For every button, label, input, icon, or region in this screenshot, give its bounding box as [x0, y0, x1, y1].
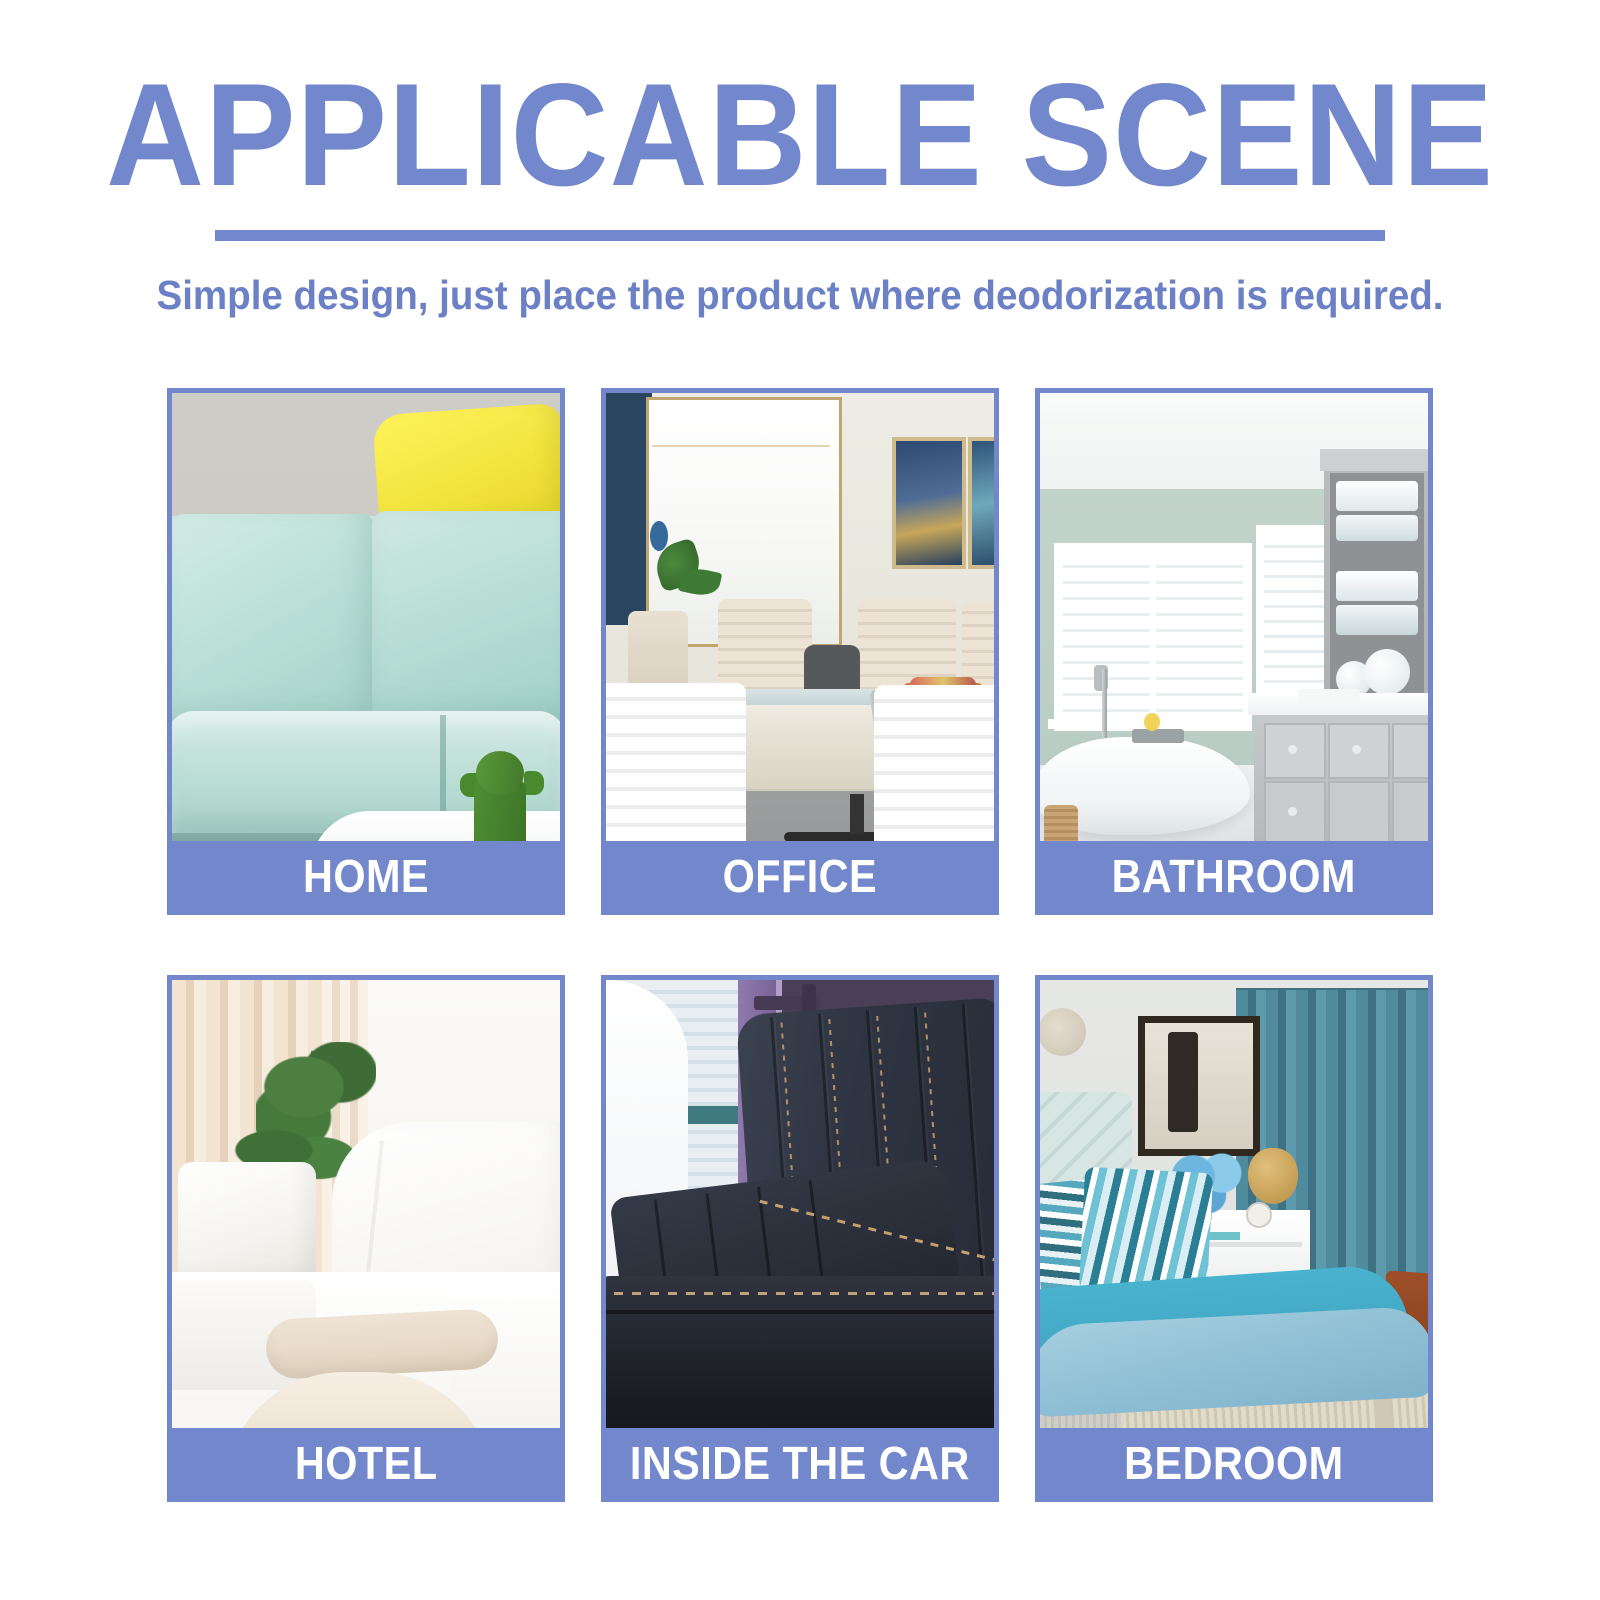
scene-label-office: OFFICE	[606, 841, 994, 910]
scene-label-bedroom: BEDROOM	[1040, 1428, 1428, 1497]
scene-label-bathroom: BATHROOM	[1040, 841, 1428, 910]
applicable-scene-infographic: APPLICABLE SCENE Simple design, just pla…	[0, 0, 1600, 1600]
sofa-cushion-right	[372, 511, 560, 725]
wall-art-left	[892, 437, 966, 569]
bolster-pillow	[265, 1308, 500, 1380]
scene-label-text: OFFICE	[723, 853, 878, 899]
scene-label-text: BEDROOM	[1124, 1440, 1343, 1486]
scene-label-home: HOME	[172, 841, 560, 910]
scene-label-inside-the-car: INSIDE THE CAR	[606, 1428, 994, 1497]
scene-card-bathroom[interactable]: BATHROOM	[1035, 388, 1433, 915]
scene-label-text: BATHROOM	[1112, 853, 1356, 899]
wall-art-right	[968, 437, 994, 569]
scene-card-office[interactable]: OFFICE	[601, 388, 999, 915]
rolled-towel	[1364, 649, 1410, 695]
scene-photo-car	[606, 980, 994, 1433]
scene-label-text: INSIDE THE CAR	[630, 1440, 970, 1486]
sofa-cushion-left	[172, 514, 374, 724]
scene-photo-bathroom	[1040, 393, 1428, 846]
scene-card-bedroom[interactable]: BEDROOM	[1035, 975, 1433, 1502]
shutter-window-main	[1054, 543, 1252, 731]
scene-photo-home	[172, 393, 560, 846]
foreground-chair-left	[606, 683, 746, 846]
scene-photo-bedroom	[1040, 980, 1428, 1433]
scene-photo-office	[606, 393, 994, 846]
framed-mirror	[1138, 1016, 1260, 1156]
foreground-chair-right	[874, 685, 994, 846]
scene-label-text: HOTEL	[295, 1440, 438, 1486]
scene-label-text: HOME	[303, 853, 429, 899]
scene-card-hotel[interactable]: HOTEL	[167, 975, 565, 1502]
wicker-basket	[1044, 805, 1078, 845]
header: APPLICABLE SCENE Simple design, just pla…	[0, 0, 1600, 316]
title-divider	[215, 230, 1385, 241]
page-title: APPLICABLE SCENE	[56, 0, 1544, 208]
folded-towel	[1336, 481, 1418, 511]
scene-label-hotel: HOTEL	[172, 1428, 560, 1497]
scene-photo-hotel	[172, 980, 560, 1433]
scene-card-inside-the-car[interactable]: INSIDE THE CAR	[601, 975, 999, 1502]
hotel-pillow	[178, 1162, 316, 1286]
scene-grid: HOME	[167, 388, 1433, 1502]
page-subtitle: Simple design, just place the product wh…	[48, 241, 1552, 316]
scene-card-home[interactable]: HOME	[167, 388, 565, 915]
car-seat-base	[606, 1276, 994, 1433]
